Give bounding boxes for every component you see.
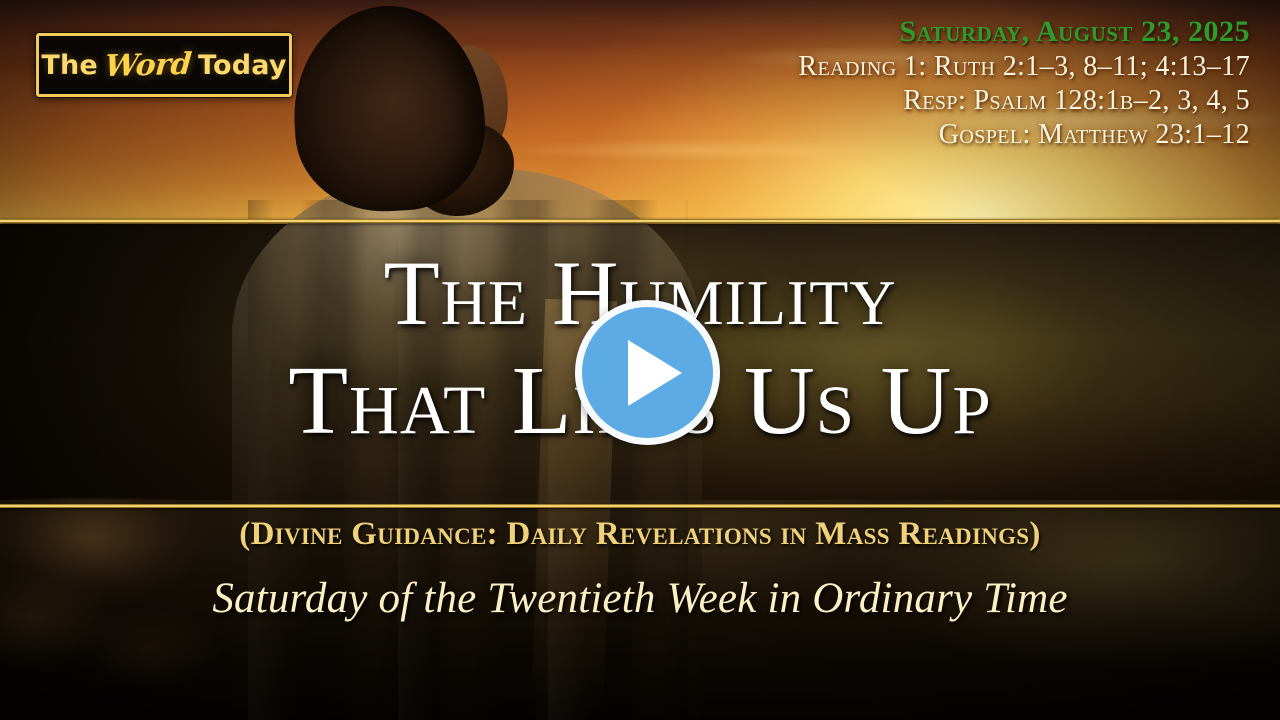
reading-gospel: Gospel: Matthew 23:1–12: [550, 118, 1250, 152]
logo-text-today: Today: [198, 50, 287, 81]
divider-bottom: [0, 504, 1280, 508]
caption-band: (Divine Guidance: Daily Revelations in M…: [0, 512, 1280, 626]
divider-top: [0, 219, 1280, 223]
reading-date: Saturday, August 23, 2025: [550, 14, 1250, 50]
play-button[interactable]: [575, 300, 720, 445]
readings-panel: Saturday, August 23, 2025 Reading 1: Rut…: [550, 14, 1250, 152]
figure-hair: [289, 1, 489, 216]
logo-text-the: The: [41, 50, 98, 81]
video-thumbnail: The Word Today Saturday, August 23, 2025…: [0, 0, 1280, 720]
liturgical-day: Saturday of the Twentieth Week in Ordina…: [0, 572, 1280, 626]
channel-logo-badge[interactable]: The Word Today: [36, 33, 292, 97]
logo-text-word: Word: [103, 46, 192, 83]
series-subtitle: (Divine Guidance: Daily Revelations in M…: [0, 512, 1280, 556]
reading-responsorial: Resp: Psalm 128:1b–2, 3, 4, 5: [550, 84, 1250, 118]
play-icon: [628, 340, 682, 406]
reading-first: Reading 1: Ruth 2:1–3, 8–11; 4:13–17: [550, 50, 1250, 84]
